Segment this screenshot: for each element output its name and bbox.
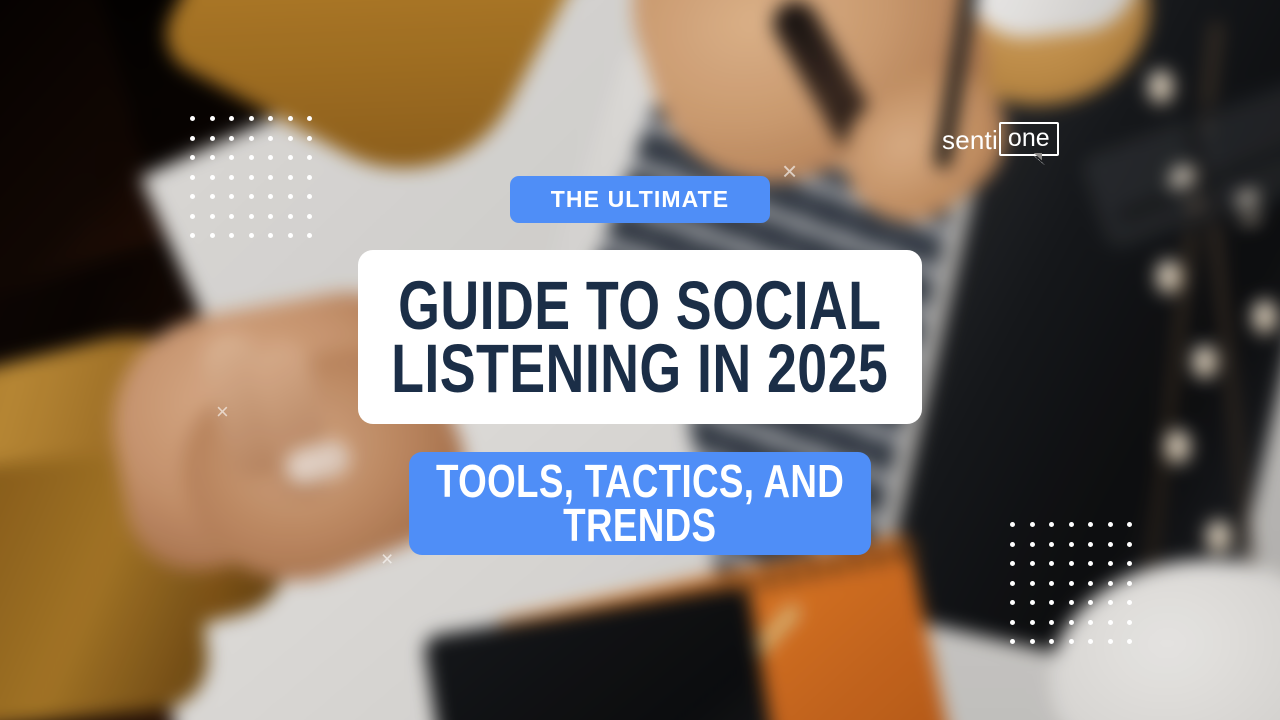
page-title-line-1: GUIDE TO SOCIAL — [398, 274, 881, 337]
logo-word-senti: senti — [942, 127, 998, 153]
x-mark-icon: × — [216, 401, 229, 423]
subtitle-line-1: TOOLS, TACTICS, AND — [436, 460, 844, 503]
subtitle-badge: TOOLS, TACTICS, AND TRENDS — [409, 452, 871, 555]
title-card: GUIDE TO SOCIAL LISTENING IN 2025 — [358, 250, 922, 424]
dot-grid-bottom-right — [1010, 522, 1147, 659]
x-mark-icon: × — [381, 549, 393, 570]
logo-word-one: one — [1008, 126, 1050, 151]
dot-grid-top-left — [190, 116, 327, 253]
speech-bubble-icon: one — [999, 122, 1059, 156]
sentione-logo[interactable]: senti one — [942, 122, 1059, 156]
eyebrow-badge-label: THE ULTIMATE — [551, 186, 729, 213]
eyebrow-badge: THE ULTIMATE — [510, 176, 770, 223]
subtitle-line-2: TRENDS — [563, 504, 716, 547]
page-title-line-2: LISTENING IN 2025 — [391, 337, 888, 400]
x-mark-icon: × — [782, 158, 797, 184]
hero-banner: × × × senti one THE ULTIMATE GUIDE TO SO… — [0, 0, 1280, 720]
